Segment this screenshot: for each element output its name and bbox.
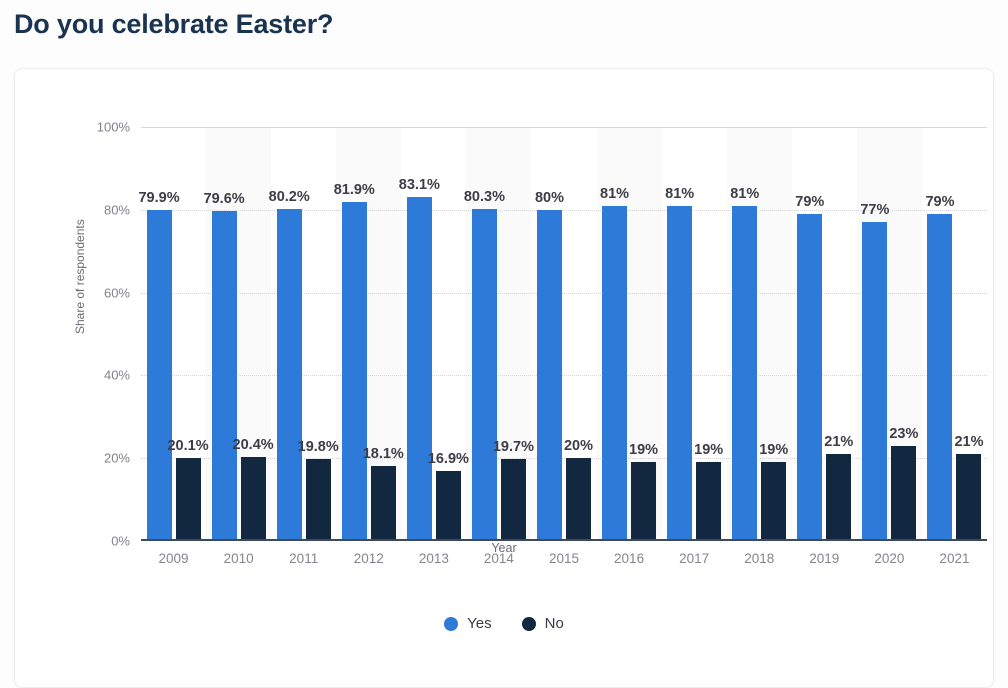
bar-no-2020[interactable]: 23% — [891, 446, 916, 541]
bar-yes-2017[interactable]: 81% — [667, 206, 692, 541]
bar-group: 81.9%18.1%2012 — [342, 127, 396, 541]
bar-yes-2021[interactable]: 79% — [927, 214, 952, 541]
bar-value-label: 19% — [629, 442, 658, 458]
bar-group: 81%19%2017 — [667, 127, 721, 541]
bar-group: 77%23%2020 — [862, 127, 916, 541]
bar-value-label: 23% — [889, 426, 918, 442]
legend-color-dot — [522, 617, 536, 631]
bar-value-label: 20.4% — [233, 437, 274, 453]
bar-value-label: 80.2% — [269, 189, 310, 205]
bar-no-2010[interactable]: 20.4% — [241, 457, 266, 541]
bar-value-label: 21% — [824, 434, 853, 450]
bar-value-label: 18.1% — [363, 446, 404, 462]
bar-no-2011[interactable]: 19.8% — [306, 459, 331, 541]
bar-yes-2019[interactable]: 79% — [797, 214, 822, 541]
bar-yes-2016[interactable]: 81% — [602, 206, 627, 541]
bar-yes-2011[interactable]: 80.2% — [277, 209, 302, 541]
bar-value-label: 20.1% — [167, 438, 208, 454]
bar-value-label: 79% — [795, 194, 824, 210]
y-axis-tick-label: 60% — [104, 285, 130, 300]
y-axis-tick-label: 80% — [104, 202, 130, 217]
bar-yes-2014[interactable]: 80.3% — [472, 209, 497, 541]
chart-legend: YesNo — [15, 615, 993, 632]
bar-value-label: 19% — [694, 442, 723, 458]
bar-no-2021[interactable]: 21% — [956, 454, 981, 541]
bar-no-2009[interactable]: 20.1% — [176, 458, 201, 541]
bar-value-label: 16.9% — [428, 451, 469, 467]
bar-yes-2010[interactable]: 79.6% — [212, 211, 237, 541]
bar-value-label: 80.3% — [464, 189, 505, 205]
bar-value-label: 19% — [759, 442, 788, 458]
y-axis-tick-label: 40% — [104, 368, 130, 383]
y-axis-tick-label: 100% — [97, 120, 130, 135]
bar-yes-2018[interactable]: 81% — [732, 206, 757, 541]
y-axis-title: Share of respondents — [73, 219, 87, 334]
bar-no-2012[interactable]: 18.1% — [371, 466, 396, 541]
bar-value-label: 81% — [730, 186, 759, 202]
bar-group: 83.1%16.9%2013 — [407, 127, 461, 541]
bar-group: 81%19%2016 — [602, 127, 656, 541]
bar-no-2014[interactable]: 19.7% — [501, 459, 526, 541]
bar-value-label: 81% — [600, 186, 629, 202]
bar-value-label: 19.7% — [493, 439, 534, 455]
bar-value-label: 79% — [925, 194, 954, 210]
bar-no-2019[interactable]: 21% — [826, 454, 851, 541]
bar-yes-2009[interactable]: 79.9% — [147, 210, 172, 541]
bar-group: 80.2%19.8%2011 — [277, 127, 331, 541]
legend-color-dot — [444, 617, 458, 631]
bar-value-label: 21% — [954, 434, 983, 450]
bar-no-2017[interactable]: 19% — [696, 462, 721, 541]
bar-value-label: 81.9% — [334, 182, 375, 198]
bar-yes-2015[interactable]: 80% — [537, 210, 562, 541]
bar-group: 79.6%20.4%2010 — [212, 127, 266, 541]
bar-group: 79%21%2021 — [927, 127, 981, 541]
bar-group: 80%20%2015 — [537, 127, 591, 541]
x-axis-title: Year — [15, 541, 993, 555]
bar-no-2015[interactable]: 20% — [566, 458, 591, 541]
bar-group: 79.9%20.1%2009 — [147, 127, 201, 541]
bar-value-label: 77% — [860, 202, 889, 218]
bar-value-label: 79.6% — [204, 191, 245, 207]
page-title: Do you celebrate Easter? — [0, 0, 1008, 40]
bar-no-2013[interactable]: 16.9% — [436, 471, 461, 541]
legend-item-yes[interactable]: Yes — [444, 615, 491, 632]
bar-yes-2012[interactable]: 81.9% — [342, 202, 367, 541]
bar-value-label: 20% — [564, 438, 593, 454]
legend-label: Yes — [467, 615, 491, 632]
bar-value-label: 19.8% — [298, 439, 339, 455]
plot-area: 0%20%40%60%80%100% 79.9%20.1%200979.6%20… — [141, 127, 987, 541]
legend-label: No — [545, 615, 564, 632]
bar-value-label: 81% — [665, 186, 694, 202]
bar-value-label: 79.9% — [138, 190, 179, 206]
bar-no-2018[interactable]: 19% — [761, 462, 786, 541]
bar-no-2016[interactable]: 19% — [631, 462, 656, 541]
bar-value-label: 80% — [535, 190, 564, 206]
bar-yes-2013[interactable]: 83.1% — [407, 197, 432, 541]
bar-group: 79%21%2019 — [797, 127, 851, 541]
bar-value-label: 83.1% — [399, 177, 440, 193]
bar-group: 81%19%2018 — [732, 127, 786, 541]
y-axis-tick-label: 20% — [104, 451, 130, 466]
legend-item-no[interactable]: No — [522, 615, 564, 632]
bar-group: 80.3%19.7%2014 — [472, 127, 526, 541]
bar-yes-2020[interactable]: 77% — [862, 222, 887, 541]
chart-card: Share of respondents 0%20%40%60%80%100% … — [14, 68, 994, 688]
